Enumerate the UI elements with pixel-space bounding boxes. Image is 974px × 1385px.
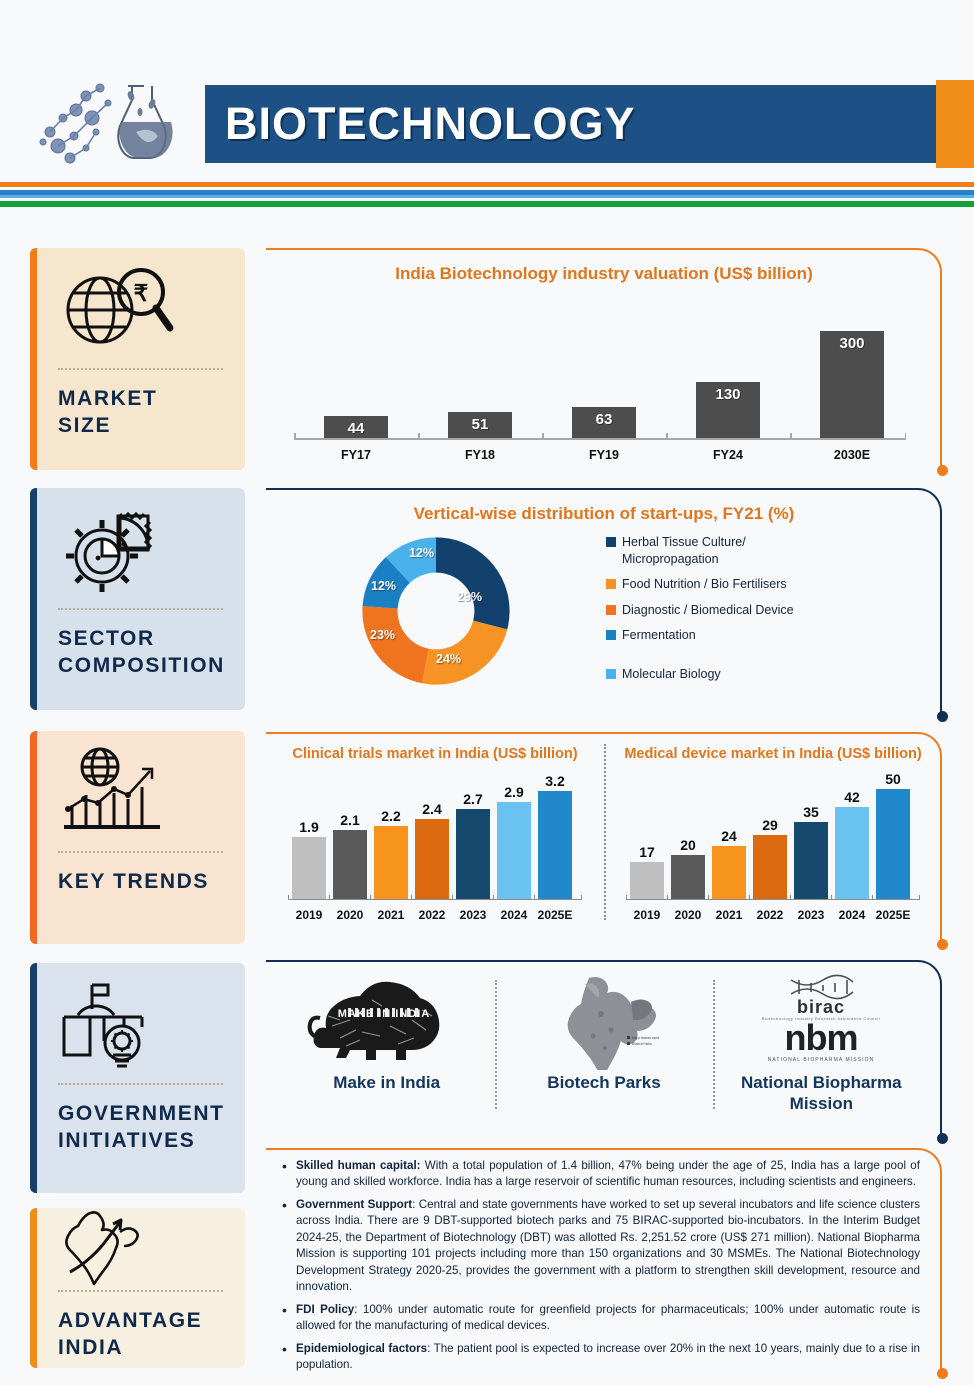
bar-value: 63 <box>596 411 613 438</box>
make-in-india-lion-icon: MAKE IN INDIA <box>286 974 487 1070</box>
legend-item: Herbal Tissue Culture/ Micropropagation <box>606 534 942 567</box>
legend-swatch-icon <box>606 605 616 615</box>
legend-swatch-icon <box>606 669 616 679</box>
bar-fy24: 130 <box>696 382 760 438</box>
medical-device-bars: 17 2019 20 2020 24 2021 29 2022 <box>620 772 926 924</box>
chart-title-clinical-trials: Clinical trials market in India (US$ bil… <box>282 742 588 762</box>
india-map-arrow-icon <box>30 1208 245 1290</box>
legend-label: Diagnostic / Biomedical Device <box>622 602 794 619</box>
sidebar-item-advantage-india[interactable]: ADVANTAGE INDIA <box>30 1208 245 1368</box>
header-accent-block <box>936 80 974 168</box>
bar-value: 24 <box>712 828 746 844</box>
svg-text:birac: birac <box>797 997 845 1017</box>
bullet-term: Epidemiological factors <box>296 1342 427 1355</box>
legend-item: Molecular Biology <box>606 666 942 683</box>
bar-label-2023: 2023 <box>450 908 496 922</box>
donut-chart-block: 29% 24% 23% 12% 12% Herbal Tissue Cultur… <box>266 524 942 709</box>
chart-divider <box>604 744 606 920</box>
legend-label: Herbal Tissue Culture/ Micropropagation <box>622 534 827 567</box>
clinical-trials-chart: Clinical trials market in India (US$ bil… <box>266 742 604 924</box>
bullet-text: : Central and state governments have wor… <box>296 1198 920 1293</box>
bar-2020: 20 <box>671 855 705 899</box>
initiative-label: National Biopharma Mission <box>721 1072 922 1115</box>
initiative-make-in-india[interactable]: MAKE IN INDIA Make in India <box>278 974 495 1115</box>
medical-device-chart: Medical device market in India (US$ bill… <box>604 742 942 924</box>
chart-title-medical-device: Medical device market in India (US$ bill… <box>620 742 926 762</box>
card-accent <box>30 248 37 470</box>
card-accent <box>30 1208 37 1368</box>
bullet-text: : 100% under automatic route for greenfi… <box>296 1303 920 1332</box>
bar-label-2021: 2021 <box>706 908 752 922</box>
bar-value: 1.9 <box>292 819 326 835</box>
x-axis <box>294 438 906 440</box>
panel-end-dot <box>937 465 948 476</box>
svg-text:MAKE IN INDIA: MAKE IN INDIA <box>337 1008 429 1020</box>
bar-2024: 2.9 <box>497 802 531 899</box>
startup-vertical-donut: 29% 24% 23% 12% 12% <box>356 531 516 691</box>
market-size-panel: India Biotechnology industry valuation (… <box>266 248 942 470</box>
legend-label: Fermentation <box>622 627 696 644</box>
bar-value: 42 <box>835 789 869 805</box>
bar-label-fy17: FY17 <box>316 448 396 462</box>
list-item: Government Support: Central and state go… <box>280 1197 920 1296</box>
bar-label-2024: 2024 <box>491 908 537 922</box>
initiative-label: Biotech Parks <box>503 1072 704 1093</box>
bar-value: 2.9 <box>497 784 531 800</box>
panel-end-dot <box>937 939 948 950</box>
page-header: BIOTECHNOLOGY <box>0 0 974 185</box>
bar-label-2019: 2019 <box>286 908 332 922</box>
legend-swatch-icon <box>606 579 616 589</box>
card-accent <box>30 731 37 944</box>
bar-label-2022: 2022 <box>747 908 793 922</box>
legend-swatch-icon <box>606 630 616 640</box>
list-item: Epidemiological factors: The patient poo… <box>280 1341 920 1374</box>
bar-label-2025e: 2025E <box>870 908 916 922</box>
government-building-bulb-icon <box>30 963 245 1083</box>
bar-value: 2.1 <box>333 812 367 828</box>
donut-pct-herbal: 29% <box>457 590 482 604</box>
bar-value: 130 <box>715 386 740 438</box>
bar-label-2025e: 2025E <box>532 908 578 922</box>
initiative-national-biopharma-mission[interactable]: birac Biotechnology Industry Research As… <box>713 974 930 1115</box>
bar-label-fy19: FY19 <box>564 448 644 462</box>
bar-value: 2.7 <box>456 791 490 807</box>
donut-legend: Herbal Tissue Culture/ Micropropagation … <box>606 530 942 691</box>
bar-label-2022: 2022 <box>409 908 455 922</box>
bar-label-fy18: FY18 <box>440 448 520 462</box>
bar-value: 29 <box>753 817 787 833</box>
bar-fy18: 51 <box>448 412 512 438</box>
page-title-bar: BIOTECHNOLOGY <box>205 85 942 163</box>
legend-item: Food Nutrition / Bio Fertilisers <box>606 576 942 593</box>
bar-2024: 42 <box>835 807 869 899</box>
bar-2019: 17 <box>630 862 664 899</box>
list-item: FDI Policy: 100% under automatic route f… <box>280 1302 920 1335</box>
sidebar-item-sector-composition[interactable]: SECTOR COMPOSITION <box>30 488 245 710</box>
donut-pct-ferm: 12% <box>371 579 396 593</box>
bar-2021: 2.2 <box>374 826 408 899</box>
bar-label-2030e: 2030E <box>812 448 892 462</box>
tricolor-stripes <box>0 182 974 207</box>
advantage-bullet-list: Skilled human capital: With a total popu… <box>266 1148 942 1385</box>
bar-2030e: 300 <box>820 331 884 438</box>
bar-fy17: 44 <box>324 416 388 438</box>
legend-item: Fermentation <box>606 627 942 644</box>
bar-label-2020: 2020 <box>665 908 711 922</box>
bar-value: 17 <box>630 844 664 860</box>
donut-pct-molbio: 12% <box>409 546 434 560</box>
donut-pct-diag: 23% <box>370 628 395 642</box>
bar-value: 35 <box>794 804 828 820</box>
bar-value: 50 <box>876 771 910 787</box>
panel-end-dot <box>937 1133 948 1144</box>
bar-fy19: 63 <box>572 407 636 438</box>
bar-value: 2.4 <box>415 801 449 817</box>
sidebar-item-key-trends[interactable]: KEY TRENDS <box>30 731 245 944</box>
dual-chart-block: Clinical trials market in India (US$ bil… <box>266 732 942 932</box>
card-accent <box>30 488 37 710</box>
bar-2022: 29 <box>753 835 787 899</box>
bar-value: 20 <box>671 837 705 853</box>
card-accent <box>30 963 37 1193</box>
globe-growth-bars-icon <box>30 731 245 851</box>
panel-end-dot <box>937 1368 948 1379</box>
sidebar-item-market-size[interactable]: ₹ MARKET SIZE <box>30 248 245 470</box>
bar-label-2020: 2020 <box>327 908 373 922</box>
sidebar-item-label: MARKET SIZE <box>30 370 245 458</box>
bar-value: 51 <box>472 416 489 438</box>
sidebar-item-label: GOVERNMENT INITIATIVES <box>30 1085 245 1173</box>
svg-text:Major biotech cluster: Major biotech cluster <box>632 1036 659 1040</box>
bar-2021: 24 <box>712 846 746 899</box>
sidebar-item-label: ADVANTAGE INDIA <box>30 1292 245 1368</box>
clinical-trials-bars: 1.9 2019 2.1 2020 2.2 2021 2.4 2022 <box>282 772 588 924</box>
sector-composition-panel: Vertical-wise distribution of start-ups,… <box>266 488 942 716</box>
donut-pct-food: 24% <box>436 652 461 666</box>
page-title: BIOTECHNOLOGY <box>205 98 636 150</box>
birac-nbm-logo-icon: birac Biotechnology Industry Research As… <box>721 974 922 1070</box>
bar-label-2021: 2021 <box>368 908 414 922</box>
bar-value: 300 <box>839 335 864 438</box>
market-size-bar-chart: 44 FY17 51 FY18 63 FY19 130 FY24 300 203… <box>294 298 914 468</box>
bar-2023: 2.7 <box>456 809 490 899</box>
bar-value: 44 <box>348 420 365 438</box>
bar-2020: 2.1 <box>333 830 367 899</box>
bar-2019: 1.9 <box>292 837 326 899</box>
bullet-term: FDI Policy <box>296 1303 354 1316</box>
bullet-term: Skilled human capital: <box>296 1159 421 1172</box>
bar-value: 2.2 <box>374 808 408 824</box>
bar-2025e: 3.2 <box>538 791 572 899</box>
india-map-icon: Major biotech cluster Biotech Parks <box>503 974 704 1070</box>
svg-text:₹: ₹ <box>134 280 149 306</box>
globe-magnifier-rupee-icon: ₹ <box>30 248 245 368</box>
key-trends-panel: Clinical trials market in India (US$ bil… <box>266 732 942 944</box>
panel-end-dot <box>937 711 948 722</box>
bar-label-2024: 2024 <box>829 908 875 922</box>
chart-title-donut: Vertical-wise distribution of start-ups,… <box>266 488 942 524</box>
legend-label: Food Nutrition / Bio Fertilisers <box>622 576 787 593</box>
bar-2023: 35 <box>794 822 828 899</box>
initiatives-row: MAKE IN INDIA Make in India <box>266 960 942 1131</box>
sidebar-item-label: KEY TRENDS <box>30 853 245 914</box>
donut-column: 29% 24% 23% 12% 12% <box>266 530 606 691</box>
government-initiatives-panel: MAKE IN INDIA Make in India <box>266 960 942 1138</box>
molecule-flask-icon <box>28 70 198 170</box>
bar-label-2023: 2023 <box>788 908 834 922</box>
bar-value: 3.2 <box>538 773 572 789</box>
bullet-term: Government Support <box>296 1198 412 1211</box>
chart-title-market-size: India Biotechnology industry valuation (… <box>266 248 942 284</box>
stripe-green <box>0 201 974 207</box>
legend-swatch-icon <box>606 537 616 547</box>
bar-label-2019: 2019 <box>624 908 670 922</box>
advantage-india-panel: Skilled human capital: With a total popu… <box>266 1148 942 1373</box>
svg-text:nbm: nbm <box>785 1017 858 1058</box>
initiative-biotech-parks[interactable]: Major biotech cluster Biotech Parks Biot… <box>495 974 712 1115</box>
list-item: Skilled human capital: With a total popu… <box>280 1158 920 1191</box>
svg-text:NATIONAL BIOPHARMA MISSION: NATIONAL BIOPHARMA MISSION <box>768 1057 875 1063</box>
bar-label-fy24: FY24 <box>688 448 768 462</box>
bar-2022: 2.4 <box>415 819 449 899</box>
bar-2025e: 50 <box>876 789 910 899</box>
svg-text:Biotech Parks: Biotech Parks <box>632 1042 652 1046</box>
gear-pie-chart-icon <box>30 488 245 608</box>
legend-item: Diagnostic / Biomedical Device <box>606 602 942 619</box>
sidebar-item-government-initiatives[interactable]: GOVERNMENT INITIATIVES <box>30 963 245 1193</box>
initiative-label: Make in India <box>286 1072 487 1093</box>
sidebar-item-label: SECTOR COMPOSITION <box>30 610 245 698</box>
legend-label: Molecular Biology <box>622 666 721 683</box>
